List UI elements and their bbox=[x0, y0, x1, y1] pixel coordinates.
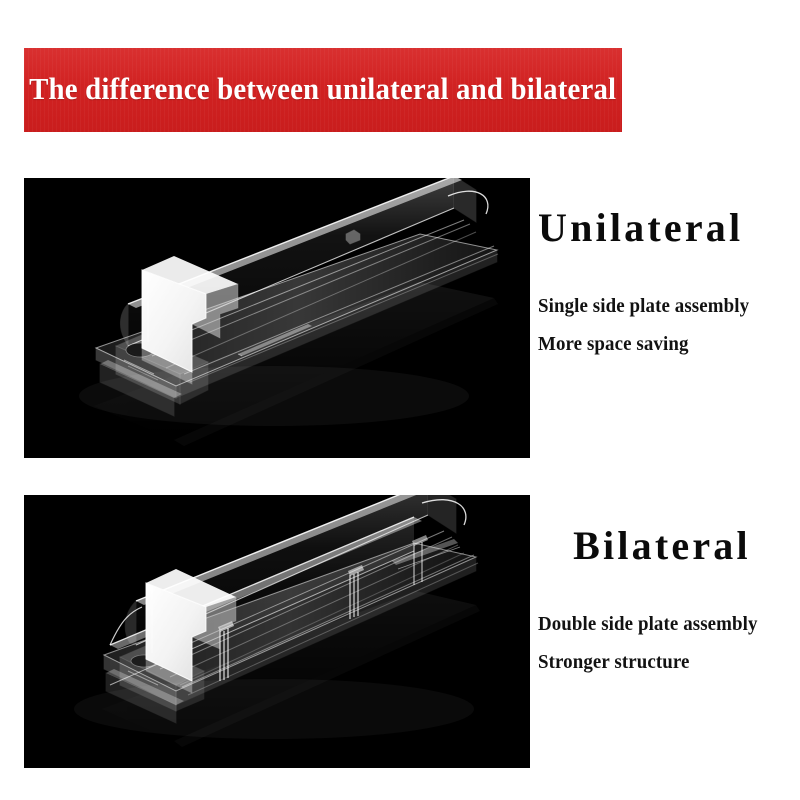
unilateral-heading: Unilateral bbox=[538, 206, 800, 250]
unilateral-text-block: Unilateral Single side plate assembly Mo… bbox=[538, 206, 800, 364]
unilateral-product-illustration bbox=[24, 178, 530, 458]
banner-title: The difference between unilateral and bi… bbox=[29, 73, 616, 107]
bilateral-product-photo bbox=[24, 495, 530, 768]
unilateral-product-photo bbox=[24, 178, 530, 458]
unilateral-feature-2: More space saving bbox=[538, 326, 792, 364]
product-comparison-page: The difference between unilateral and bi… bbox=[0, 0, 800, 800]
bilateral-text-block: Bilateral Double side plate assembly Str… bbox=[538, 524, 800, 682]
unilateral-feature-1: Single side plate assembly bbox=[538, 288, 792, 326]
bilateral-heading: Bilateral bbox=[538, 524, 800, 568]
bilateral-product-illustration bbox=[24, 495, 530, 768]
unilateral-features: Single side plate assembly More space sa… bbox=[538, 288, 792, 364]
bilateral-features: Double side plate assembly Stronger stru… bbox=[538, 606, 792, 682]
bilateral-feature-2: Stronger structure bbox=[538, 644, 792, 682]
bilateral-feature-1: Double side plate assembly bbox=[538, 606, 792, 644]
title-banner: The difference between unilateral and bi… bbox=[24, 48, 622, 132]
